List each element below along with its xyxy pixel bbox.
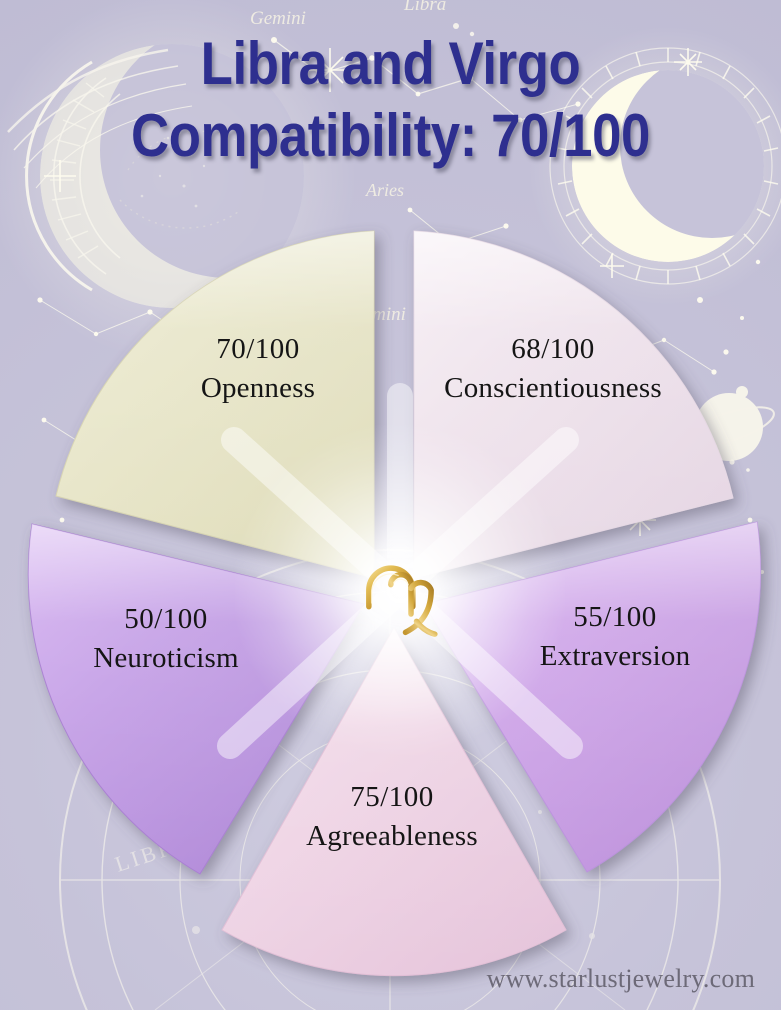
libra-virgo-zodiac-pendant-icon xyxy=(345,537,455,647)
site-watermark: www.starlustjewelry.com xyxy=(487,964,755,994)
title-line-2: Compatibility: 70/100 xyxy=(47,100,734,172)
pie-slice-openness[interactable] xyxy=(56,231,374,578)
page-title: Libra and Virgo Compatibility: 70/100 xyxy=(0,28,781,172)
title-line-1: Libra and Virgo xyxy=(47,28,734,100)
pie-slice-conscientiousness[interactable] xyxy=(414,231,733,578)
compatibility-infographic: LIBRA VIRGO xyxy=(0,0,781,1010)
